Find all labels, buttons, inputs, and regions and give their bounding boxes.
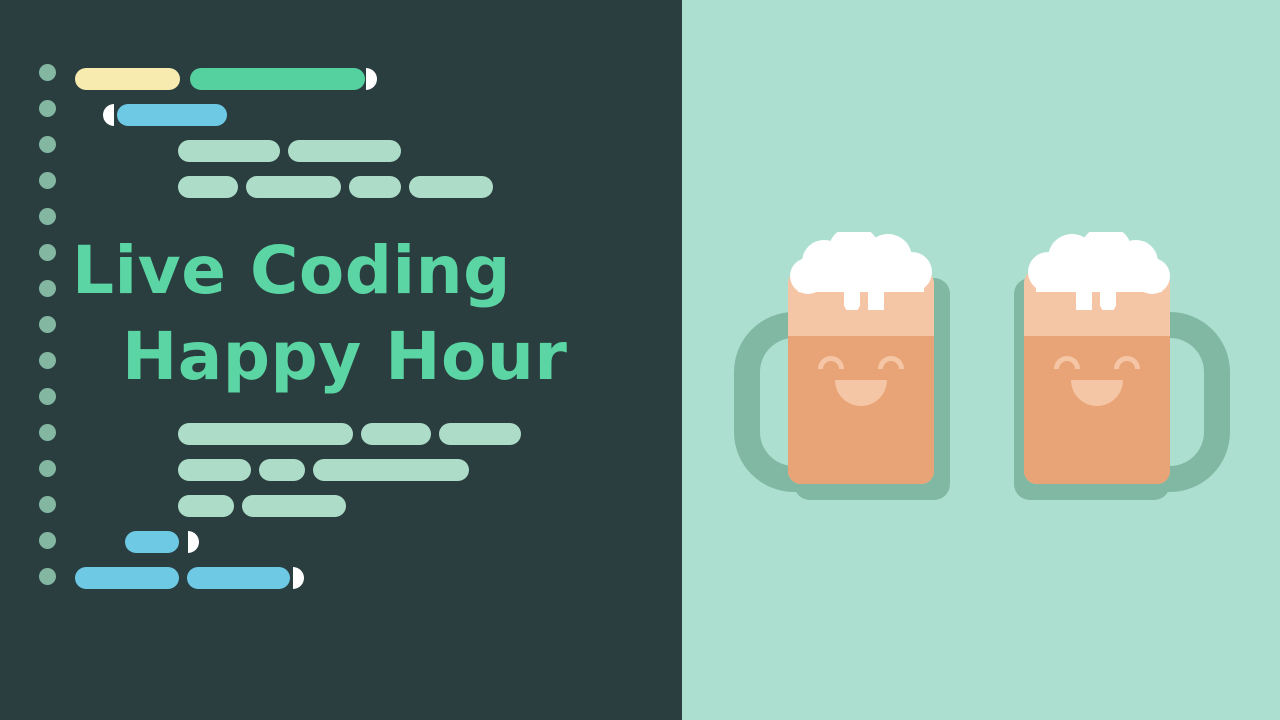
mug-face <box>1054 356 1140 412</box>
beer-foam-icon <box>1018 232 1178 310</box>
code-token-plain <box>439 423 521 445</box>
title-line-1: Live Coding <box>60 228 660 314</box>
code-token-string <box>190 68 365 90</box>
eye-right-icon <box>878 356 904 369</box>
eye-left-icon <box>1054 356 1080 369</box>
code-token-plain <box>178 423 353 445</box>
code-token-plain <box>361 423 431 445</box>
code-token-plain <box>259 459 305 481</box>
code-token-plain <box>313 459 469 481</box>
code-token-plain <box>178 140 280 162</box>
code-token-function <box>117 104 227 126</box>
code-token-plain <box>178 495 234 517</box>
code-token-plain <box>178 176 238 198</box>
code-token-plain <box>242 495 346 517</box>
illustration-panel <box>682 0 1280 720</box>
beer-mug-right-icon <box>992 228 1222 503</box>
code-token-plain <box>178 459 251 481</box>
slide-title: Live Coding Happy Hour <box>60 228 660 400</box>
code-token-plain <box>246 176 341 198</box>
code-token-function <box>75 567 179 589</box>
beer-foam-icon <box>782 232 942 310</box>
code-token-function <box>125 531 179 553</box>
code-editor-panel: Live Coding Happy Hour <box>0 0 682 720</box>
eye-right-icon <box>1114 356 1140 369</box>
smile-icon <box>835 380 887 406</box>
code-token-plain <box>349 176 401 198</box>
code-cursor <box>188 531 199 553</box>
eye-left-icon <box>818 356 844 369</box>
code-token-keyword <box>75 68 180 90</box>
code-token-plain <box>288 140 401 162</box>
smile-icon <box>1071 380 1123 406</box>
slide-canvas: Live Coding Happy Hour <box>0 0 1280 720</box>
code-token-function <box>187 567 290 589</box>
title-line-2: Happy Hour <box>60 314 660 400</box>
mug-face <box>818 356 904 412</box>
code-cursor <box>366 68 377 90</box>
code-cursor <box>293 567 304 589</box>
beer-mug-left-icon <box>742 228 972 503</box>
code-cursor <box>103 104 114 126</box>
code-token-plain <box>409 176 493 198</box>
